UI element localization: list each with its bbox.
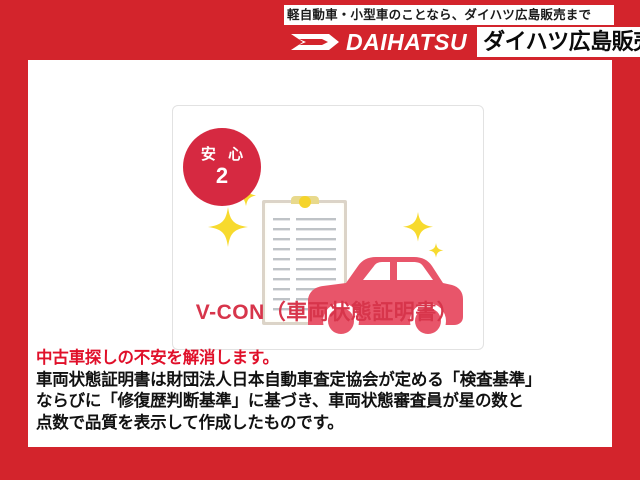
daihatsu-d-emblem-icon [284,27,346,57]
header-tagline-text: 軽自動車・小型車のことなら、ダイハツ広島販売まで [284,9,591,22]
sparkle-star-tiny-icon [429,243,444,258]
logo-jp-container: ダイハツ広島販売 [477,27,640,57]
vcon-caption-text: V-CON（車両状態証明書） [172,296,482,326]
logo-wordmark-container: DAIHATSU [346,27,477,57]
description-line: ならびに「修復歴判断基準」に基づき、車両状態審査員が星の数と [36,391,612,413]
description-line: 車両状態証明書は財団法人日本自動車査定協会が定める「検査基準」 [36,370,612,392]
anshin-badge: 安 心 2 [183,128,261,206]
anshin-badge-label: 安 心 [197,147,247,162]
header-tagline-banner: 軽自動車・小型車のことなら、ダイハツ広島販売まで [284,5,614,25]
description-line: 中古車探しの不安を解消します。 [36,348,612,370]
sparkle-star-right-icon [403,212,433,242]
logo-wordmark-text: DAIHATSU [346,31,467,54]
description-line: 点数で品質を表示して作成したものです。 [36,413,612,435]
content-card: 安 心 2 [28,60,612,447]
anshin-badge-number: 2 [216,165,228,187]
logo-jp-text: ダイハツ広島販売 [483,31,640,53]
brand-logo: DAIHATSU ダイハツ広島販売 [284,27,640,57]
description-block: 中古車探しの不安を解消します。 車両状態証明書は財団法人日本自動車査定協会が定め… [36,348,612,434]
sparkle-star-icon [208,207,248,247]
page-header: 軽自動車・小型車のことなら、ダイハツ広島販売まで DAIHATSU ダイハツ広島… [0,0,640,60]
